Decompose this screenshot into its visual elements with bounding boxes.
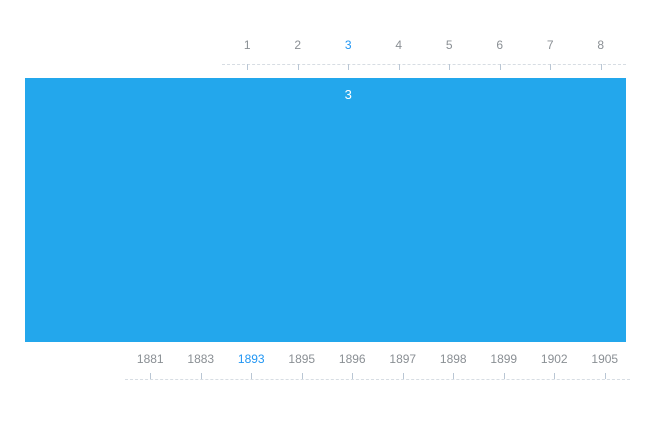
axis-tick-mark bbox=[403, 373, 404, 379]
axis-tick-label-1902[interactable]: 1902 bbox=[541, 352, 568, 366]
axis-tick-mark bbox=[453, 373, 454, 379]
axis-tick-mark bbox=[500, 64, 501, 70]
axis-tick-label-1[interactable]: 1 bbox=[244, 38, 251, 52]
axis-tick-label-1896[interactable]: 1896 bbox=[339, 352, 366, 366]
axis-tick-label-3[interactable]: 3 bbox=[345, 38, 352, 52]
axis-tick-mark bbox=[298, 64, 299, 70]
axis-tick-label-4[interactable]: 4 bbox=[395, 38, 402, 52]
axis-tick-mark bbox=[348, 64, 349, 70]
axis-tick-label-1881[interactable]: 1881 bbox=[137, 352, 164, 366]
axis-tick-label-1899[interactable]: 1899 bbox=[490, 352, 517, 366]
axis-tick-mark bbox=[302, 373, 303, 379]
axis-tick-label-8[interactable]: 8 bbox=[597, 38, 604, 52]
axis-tick-mark bbox=[504, 373, 505, 379]
axis-tick-mark bbox=[251, 373, 252, 379]
axis-tick-label-1893[interactable]: 1893 bbox=[238, 352, 265, 366]
axis-tick-mark bbox=[352, 373, 353, 379]
bar-plot-area: 3 bbox=[25, 78, 626, 342]
axis-tick-label-1883[interactable]: 1883 bbox=[187, 352, 214, 366]
axis-tick-mark bbox=[550, 64, 551, 70]
axis-tick-mark bbox=[399, 64, 400, 70]
axis-tick-mark bbox=[201, 373, 202, 379]
axis-tick-label-2[interactable]: 2 bbox=[294, 38, 301, 52]
bottom-axis-line bbox=[125, 379, 630, 380]
chart-container: 12345678 3 18811883189318951896189718981… bbox=[0, 0, 650, 436]
bar-value-label: 3 bbox=[345, 87, 352, 102]
axis-tick-mark bbox=[449, 64, 450, 70]
axis-tick-label-5[interactable]: 5 bbox=[446, 38, 453, 52]
axis-tick-mark bbox=[247, 64, 248, 70]
axis-tick-mark bbox=[554, 373, 555, 379]
axis-tick-label-6[interactable]: 6 bbox=[496, 38, 503, 52]
top-axis-line bbox=[222, 64, 626, 65]
axis-tick-label-7[interactable]: 7 bbox=[547, 38, 554, 52]
axis-tick-label-1895[interactable]: 1895 bbox=[288, 352, 315, 366]
axis-tick-label-1897[interactable]: 1897 bbox=[389, 352, 416, 366]
axis-tick-mark bbox=[605, 373, 606, 379]
bar-segment[interactable] bbox=[25, 78, 626, 342]
axis-tick-mark bbox=[601, 64, 602, 70]
axis-tick-label-1898[interactable]: 1898 bbox=[440, 352, 467, 366]
axis-tick-mark bbox=[150, 373, 151, 379]
axis-tick-label-1905[interactable]: 1905 bbox=[591, 352, 618, 366]
